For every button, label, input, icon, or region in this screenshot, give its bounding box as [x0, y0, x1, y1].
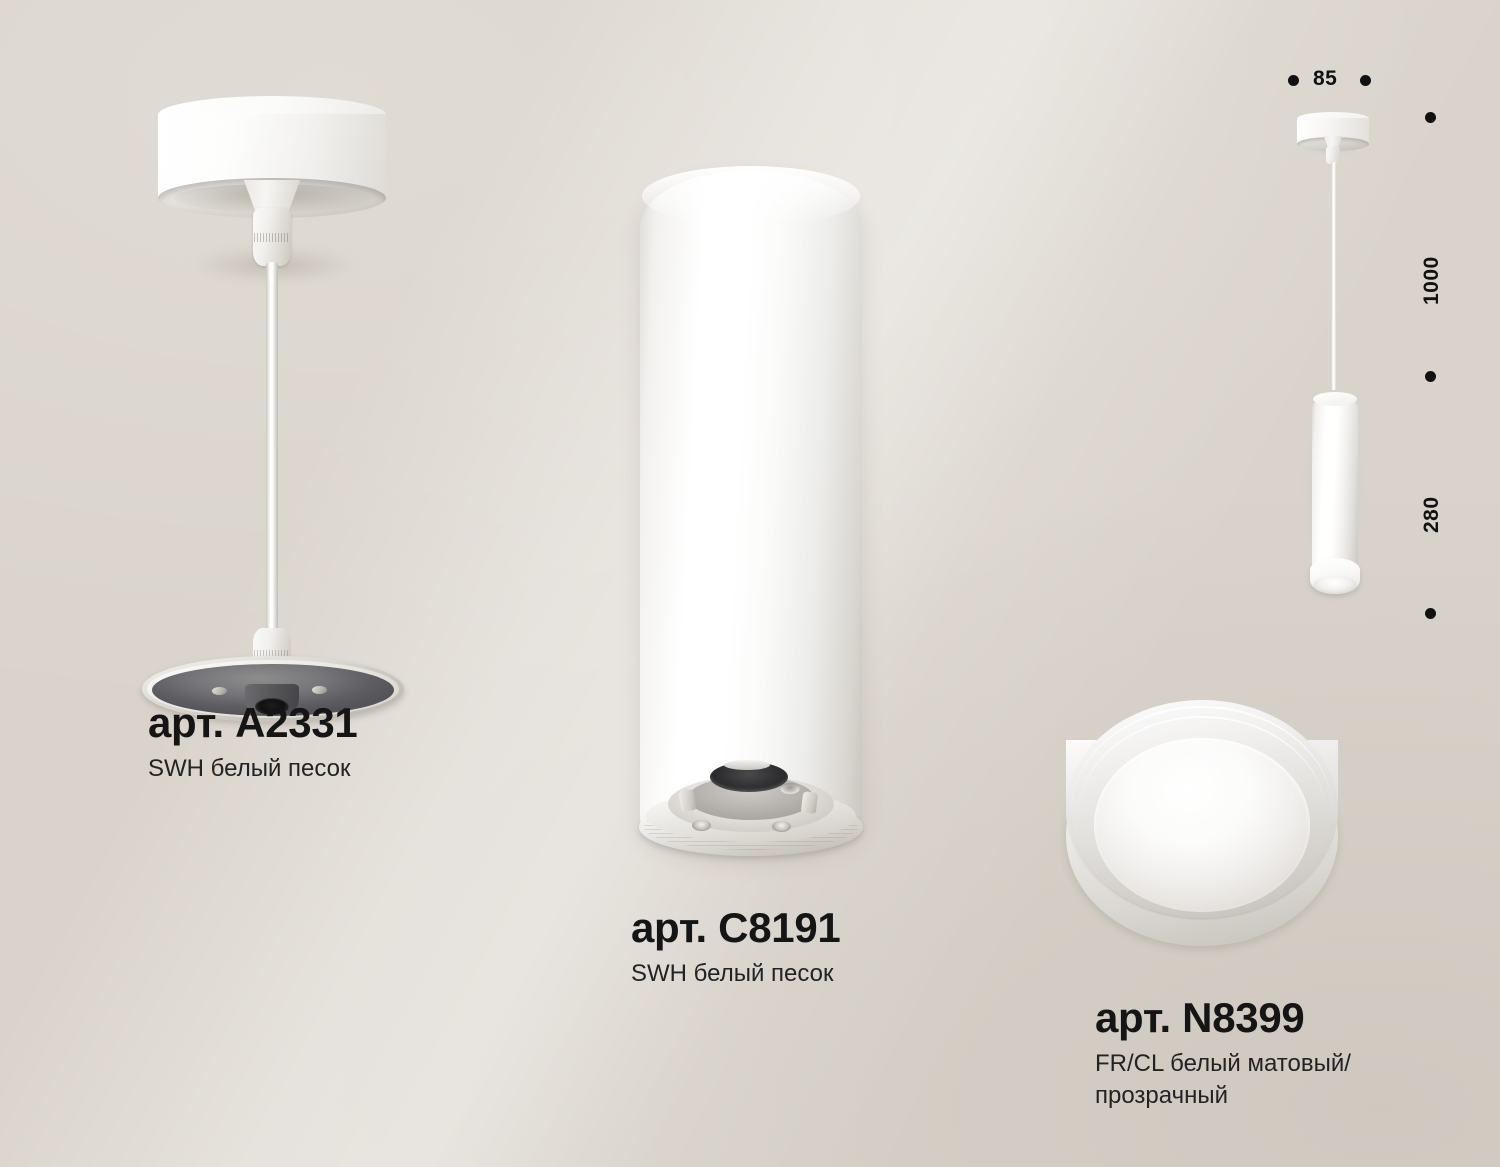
finish-label-n8399-line2: прозрачный — [1095, 1080, 1425, 1112]
cylinder-wiring-hole — [780, 783, 800, 794]
finish-label-a2331: SWH белый песок — [148, 753, 357, 785]
pendant-diffuser-face — [1313, 576, 1357, 594]
article-code-c8191: арт. C8191 — [631, 905, 840, 950]
product-composition-canvas: арт. A2331 SWH белый песок арт. C8191 SW… — [0, 0, 1500, 1167]
dimension-dot-drop-top — [1425, 112, 1436, 123]
dimension-dot-drop-bottom — [1425, 371, 1436, 382]
cylinder-socket-lip — [724, 760, 770, 770]
dimension-dot-fixture-bottom — [1425, 608, 1436, 619]
dimension-label-drop: 1000 — [1420, 256, 1444, 305]
product-image-pendant-assembly — [1280, 100, 1400, 630]
finish-label-n8399-line1: FR/CL белый матовый/ — [1095, 1048, 1425, 1080]
cylinder-body — [640, 170, 862, 854]
mount-disc-screw — [212, 687, 227, 695]
cylinder-mount-post — [801, 791, 818, 814]
dimension-dot-width-left — [1288, 75, 1299, 86]
caption-c8191: арт. C8191 SWH белый песок — [631, 905, 840, 990]
suspension-rod — [266, 262, 278, 640]
mount-disc-screw — [312, 686, 327, 694]
pendant-cylinder-top — [1313, 392, 1357, 406]
dimension-dot-width-right — [1360, 75, 1371, 86]
diffuser-matte-face — [1094, 738, 1310, 912]
article-code-a2331: арт. A2331 — [148, 700, 357, 745]
dimension-label-width: 85 — [1313, 67, 1337, 91]
product-image-a2331 — [120, 90, 420, 660]
product-image-n8399 — [1040, 680, 1360, 980]
caption-a2331: арт. A2331 SWH белый песок — [148, 700, 357, 785]
cylinder-screw — [692, 820, 711, 831]
pendant-suspension-cord — [1331, 162, 1336, 390]
finish-label-c8191: SWH белый песок — [631, 958, 840, 990]
article-code-n8399: арт. N8399 — [1095, 995, 1425, 1040]
cylinder-screw — [772, 821, 791, 832]
cylinder-top-cap — [642, 166, 860, 226]
pendant-cylinder-body — [1312, 396, 1358, 574]
cylinder-mount-post — [678, 789, 696, 812]
cable-gland-upper-ridges — [254, 233, 290, 242]
caption-n8399: арт. N8399 FR/CL белый матовый/ прозрачн… — [1095, 995, 1425, 1112]
product-image-c8191 — [620, 150, 900, 870]
dimension-label-fixture-height: 280 — [1420, 496, 1444, 533]
